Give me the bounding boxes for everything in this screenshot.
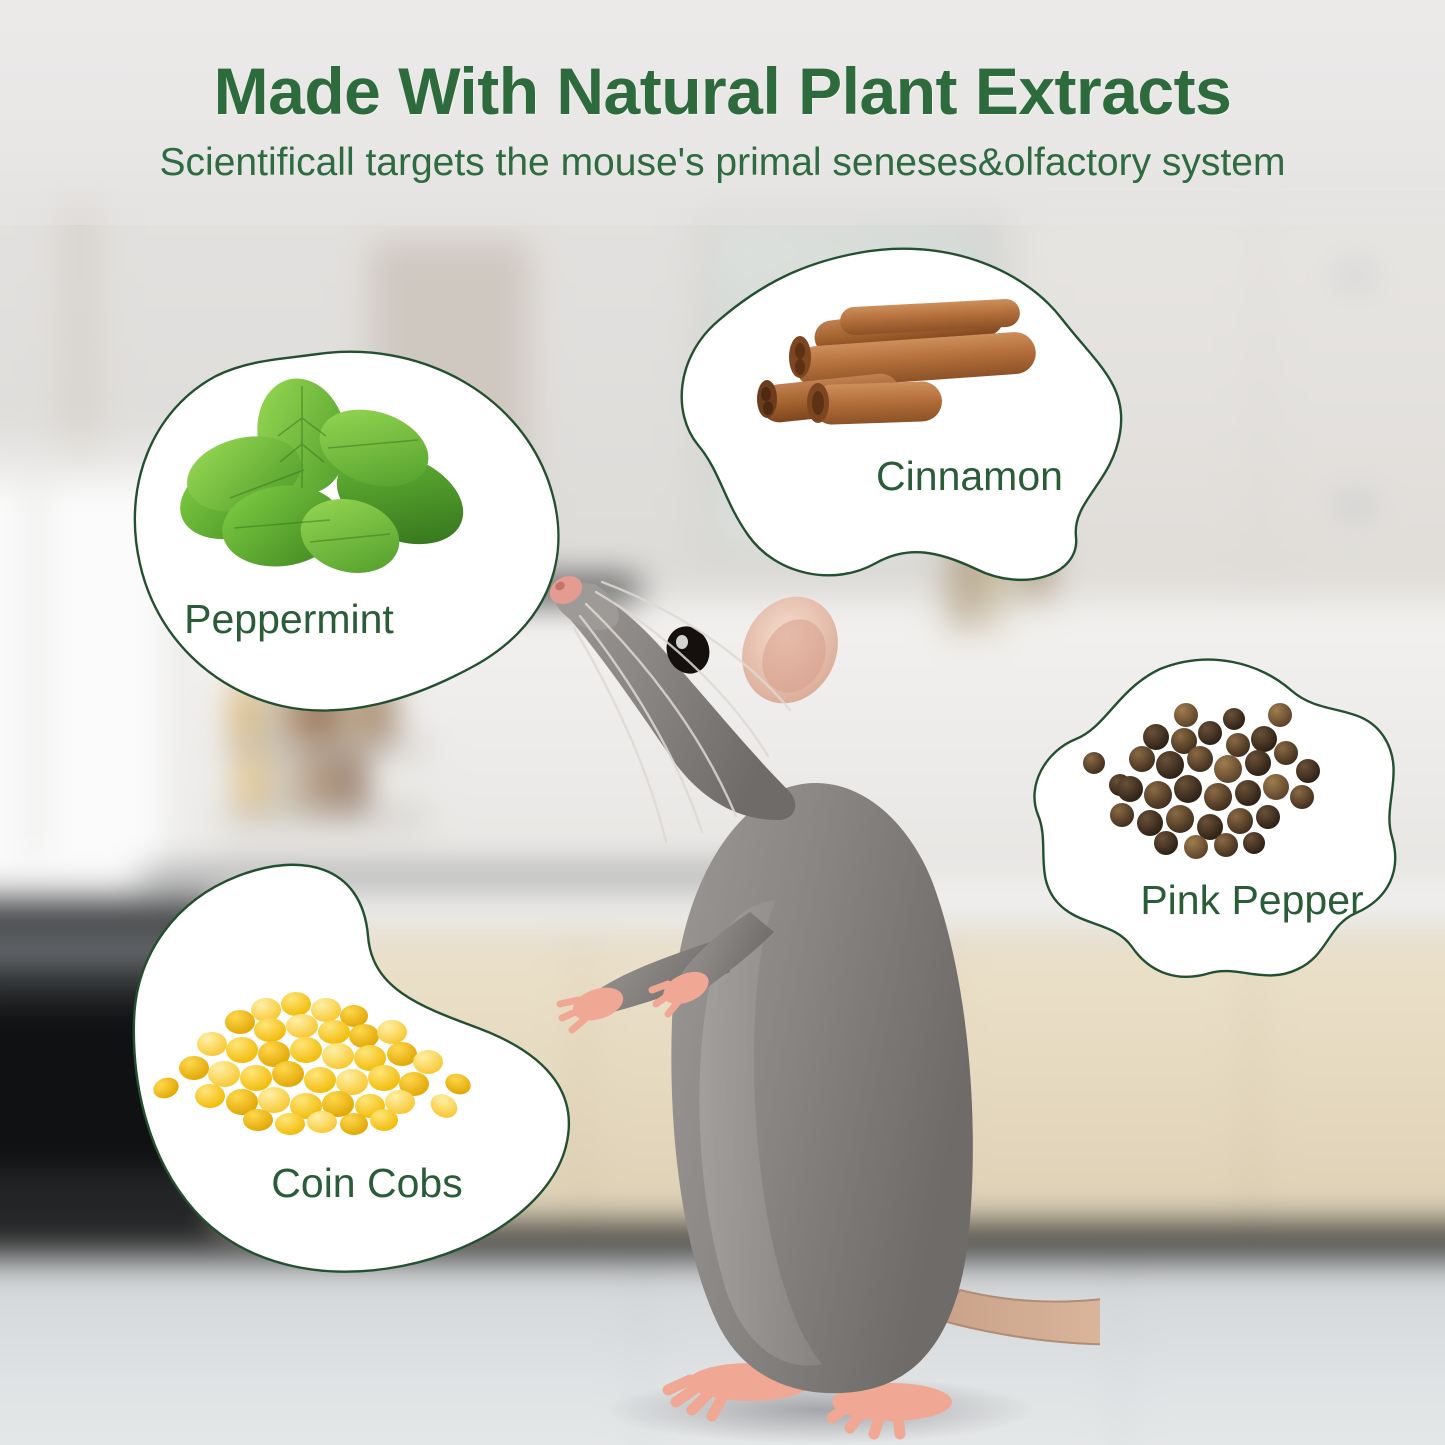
cabinet-handle-icon	[1338, 270, 1372, 279]
peppercorn	[1144, 781, 1172, 809]
corn-kernel	[286, 1014, 318, 1038]
peppercorn	[1274, 741, 1298, 765]
corn-kernel	[290, 1037, 322, 1063]
ingredient-callout-coincobs[interactable]: Coin Cobs	[118, 858, 588, 1278]
peppercorn	[1083, 752, 1105, 774]
peppercorn	[1156, 751, 1184, 779]
peppercorn	[1143, 724, 1169, 750]
peppercorn	[1214, 755, 1242, 783]
ingredient-callout-pinkpepper[interactable]: Pink Pepper	[1010, 655, 1410, 1005]
mint-leaves-icon	[178, 378, 478, 593]
peppercorn	[1184, 835, 1208, 859]
peppercorn	[1235, 780, 1261, 806]
corn-kernel	[197, 1032, 227, 1056]
peppercorn	[1204, 783, 1232, 811]
spice-jar	[274, 752, 294, 810]
cinnamon-sticks-icon	[752, 295, 1052, 455]
peppercorn	[1166, 805, 1194, 833]
peppercorn	[1256, 805, 1280, 829]
headline-banner: Made With Natural Plant Extracts Scienti…	[0, 0, 1445, 225]
peppercorn	[1227, 808, 1253, 834]
spice-shelf	[225, 810, 425, 822]
cinnamon-stick-hole	[795, 343, 805, 359]
corn-kernel	[307, 1111, 337, 1133]
peppercorn	[1129, 746, 1155, 772]
corn-kernel	[150, 1074, 181, 1102]
corn-kernel	[195, 1084, 225, 1108]
ingredient-label: Peppermint	[74, 596, 504, 643]
cabinet-handle-icon	[1338, 500, 1372, 509]
peppercorn	[1251, 726, 1277, 752]
corn-kernel	[225, 1010, 255, 1034]
ingredient-callout-peppermint[interactable]: Peppermint	[130, 348, 560, 718]
corn-kernel	[426, 1089, 461, 1122]
ingredient-label: Coin Cobs	[132, 1160, 602, 1207]
corn-kernel	[275, 1113, 305, 1135]
peppercorn	[1110, 803, 1134, 827]
corn-kernel	[208, 1061, 240, 1087]
corn-kernel	[318, 1020, 350, 1044]
corn-pile	[150, 992, 473, 1135]
peppercorn	[1214, 833, 1238, 857]
ingredient-label: Cinnamon	[742, 453, 1197, 500]
peppercorn-pile	[1083, 703, 1320, 859]
corn-kernel	[377, 1020, 407, 1044]
cinnamon-stick-hole	[812, 391, 824, 415]
corn-kernel	[179, 1056, 209, 1080]
spice-jar	[342, 752, 362, 810]
upper-cabinet-door	[1265, 220, 1445, 623]
peppercorn	[1268, 703, 1292, 727]
peppercorn	[1263, 774, 1289, 800]
corn-kernel	[258, 1087, 290, 1113]
corn-kernel	[443, 1070, 474, 1097]
peppercorn	[1223, 708, 1245, 730]
corn-kernel	[387, 1042, 417, 1066]
peppercorn	[1187, 746, 1213, 772]
rat-eye-glint	[676, 635, 688, 649]
peppercorns-icon	[1058, 697, 1348, 872]
page-subtitle: Scientificall targets the mouse's primal…	[0, 125, 1445, 184]
peppercorn	[1174, 703, 1198, 727]
corn-kernel	[368, 1065, 400, 1091]
peppercorn	[1174, 775, 1202, 803]
floor-seam	[1120, 1258, 1123, 1445]
spice-jar	[240, 752, 260, 810]
peppercorn	[1117, 776, 1143, 802]
corn-kernel	[311, 998, 341, 1022]
corn-kernel	[281, 992, 311, 1016]
spice-jar	[308, 752, 328, 810]
peppercorn	[1154, 831, 1178, 855]
peppercorn	[1245, 750, 1271, 776]
peppercorn	[1290, 785, 1314, 809]
peppercorn	[1296, 759, 1320, 783]
page-title: Made With Natural Plant Extracts	[0, 0, 1445, 125]
corn-kernel	[349, 1024, 379, 1048]
peppercorn	[1226, 733, 1250, 757]
spice-shelf	[225, 740, 425, 752]
corn-kernel	[254, 1018, 286, 1042]
ingredient-callout-cinnamon[interactable]: Cinnamon	[672, 245, 1127, 585]
corn-kernel	[226, 1037, 258, 1063]
corn-kernels-icon	[148, 988, 478, 1138]
corn-kernel	[340, 1113, 368, 1135]
peppercorn	[1243, 832, 1265, 854]
cinnamon-stick-hole	[795, 359, 805, 375]
corn-kernel	[322, 1043, 354, 1069]
cinnamon-stick-hole	[763, 401, 773, 415]
corn-kernel	[336, 1069, 368, 1095]
corn-kernel	[370, 1109, 398, 1131]
corn-kernel	[243, 1109, 273, 1131]
corn-kernel	[413, 1050, 443, 1074]
corn-kernel	[304, 1067, 336, 1093]
rat-tail	[940, 1276, 1100, 1344]
peppercorn	[1198, 721, 1222, 745]
corn-kernel	[272, 1061, 304, 1087]
peppercorn	[1137, 810, 1163, 836]
ingredient-label: Pink Pepper	[1052, 877, 1445, 924]
cinnamon-stick-hole	[761, 387, 771, 401]
product-feature-image: Made With Natural Plant Extracts Scienti…	[0, 0, 1445, 1445]
window-mullion	[28, 460, 42, 860]
corn-kernel	[240, 1065, 272, 1091]
cinnamon-stick	[811, 381, 942, 426]
